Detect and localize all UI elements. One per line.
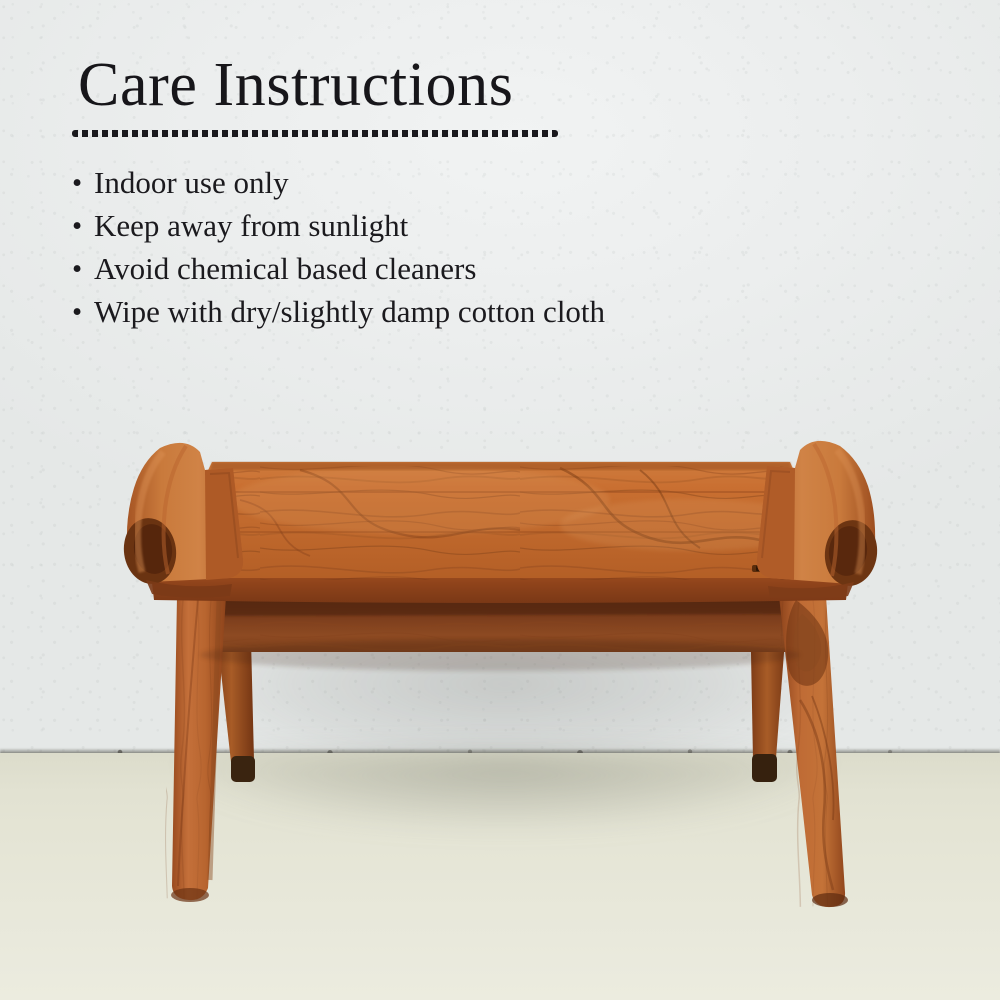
bullet-icon: •	[72, 248, 82, 290]
title-divider	[72, 130, 558, 137]
bullet-icon: •	[72, 291, 82, 333]
care-instruction-list: • Indoor use only • Keep away from sunli…	[70, 162, 830, 334]
list-item-label: Indoor use only	[94, 165, 289, 200]
list-item-label: Keep away from sunlight	[94, 208, 408, 243]
bench-photo	[0, 0, 1000, 1000]
bullet-icon: •	[72, 205, 82, 247]
list-item-label: Avoid chemical based cleaners	[94, 251, 476, 286]
list-item: • Keep away from sunlight	[70, 205, 830, 247]
bullet-icon: •	[72, 162, 82, 204]
list-item: • Avoid chemical based cleaners	[70, 248, 830, 290]
care-instructions-graphic: Care Instructions • Indoor use only • Ke…	[0, 0, 1000, 1000]
list-item: • Indoor use only	[70, 162, 830, 204]
list-item: • Wipe with dry/slightly damp cotton clo…	[70, 291, 830, 333]
page-title: Care Instructions	[78, 54, 513, 116]
list-item-label: Wipe with dry/slightly damp cotton cloth	[94, 294, 605, 329]
